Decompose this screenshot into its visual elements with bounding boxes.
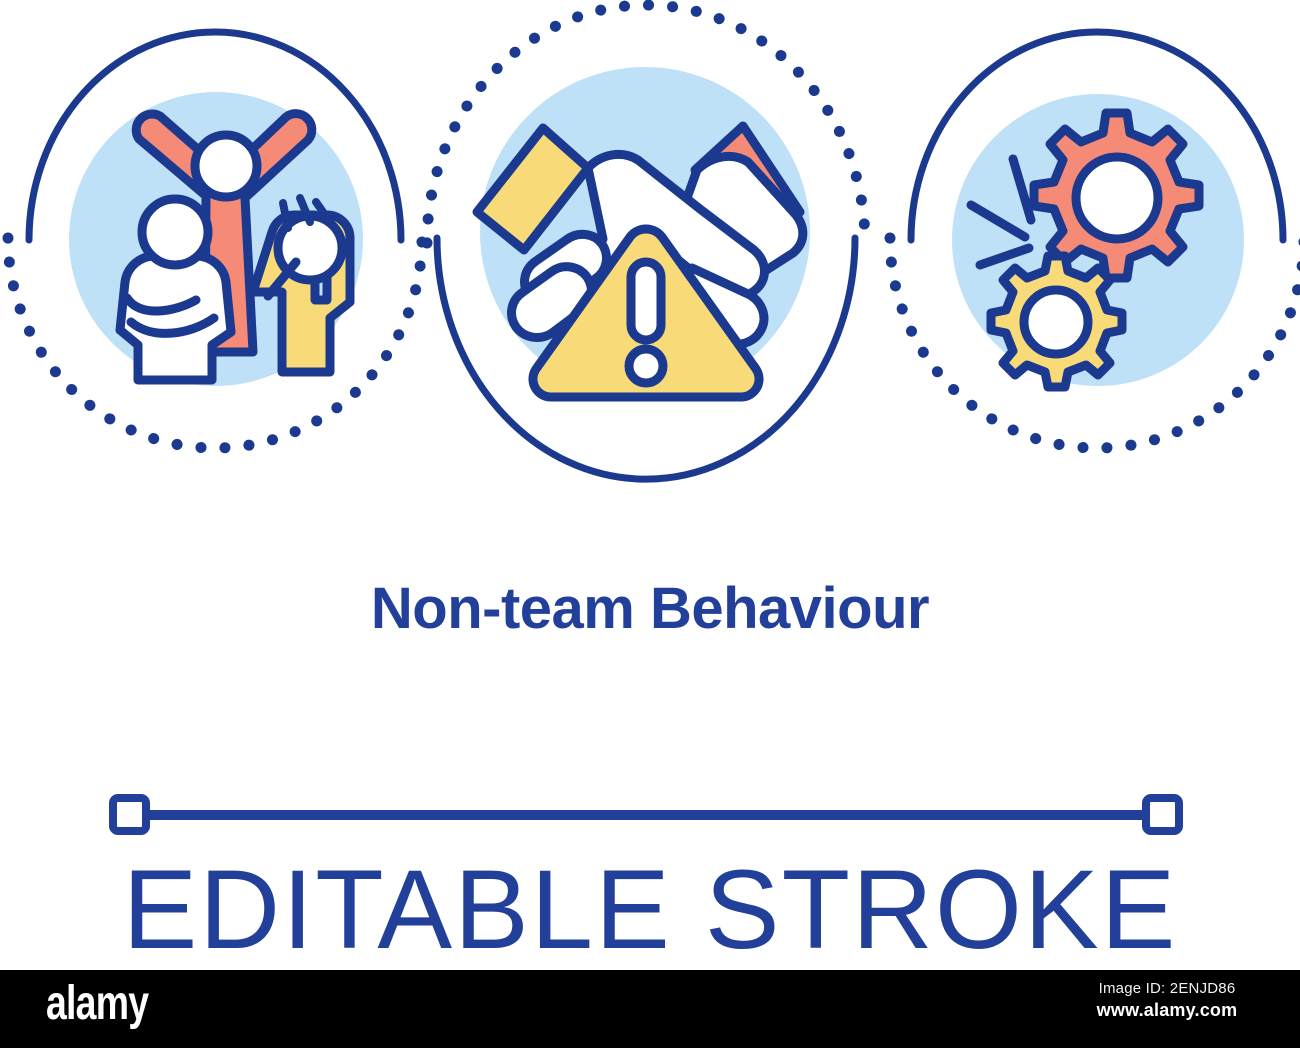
watermark-meta: Image ID: 2ENJD86 www.alamy.com [1052, 980, 1282, 1021]
loop-right [890, 32, 1300, 448]
concept-illustration: Non-team Behaviour EDITABLE STROKE [0, 0, 1300, 1048]
gear-small [991, 256, 1122, 387]
coral-person-head [195, 135, 257, 197]
loop-center [427, 5, 865, 479]
stroke-handle-left [113, 798, 146, 831]
watermark-bar: alamy Image ID: 2ENJD86 www.alamy.com [0, 970, 1300, 1048]
illustration-canvas: Non-team Behaviour EDITABLE STROKE alamy… [0, 0, 1300, 1048]
editable-stroke-sample [113, 798, 1179, 831]
alamy-logo: alamy [46, 976, 148, 1031]
alamy-url-label: www.alamy.com [1052, 1000, 1282, 1021]
loop-left [8, 32, 422, 448]
white-person-head [142, 199, 208, 265]
image-id-label: Image ID: 2ENJD86 [1052, 980, 1282, 997]
page-title: Non-team Behaviour [371, 576, 929, 641]
warning-exclamation-bar [631, 262, 661, 340]
stroke-handle-right [1146, 798, 1179, 831]
editable-stroke-label: EDITABLE STROKE [123, 847, 1178, 972]
warning-exclamation-dot [629, 349, 663, 383]
